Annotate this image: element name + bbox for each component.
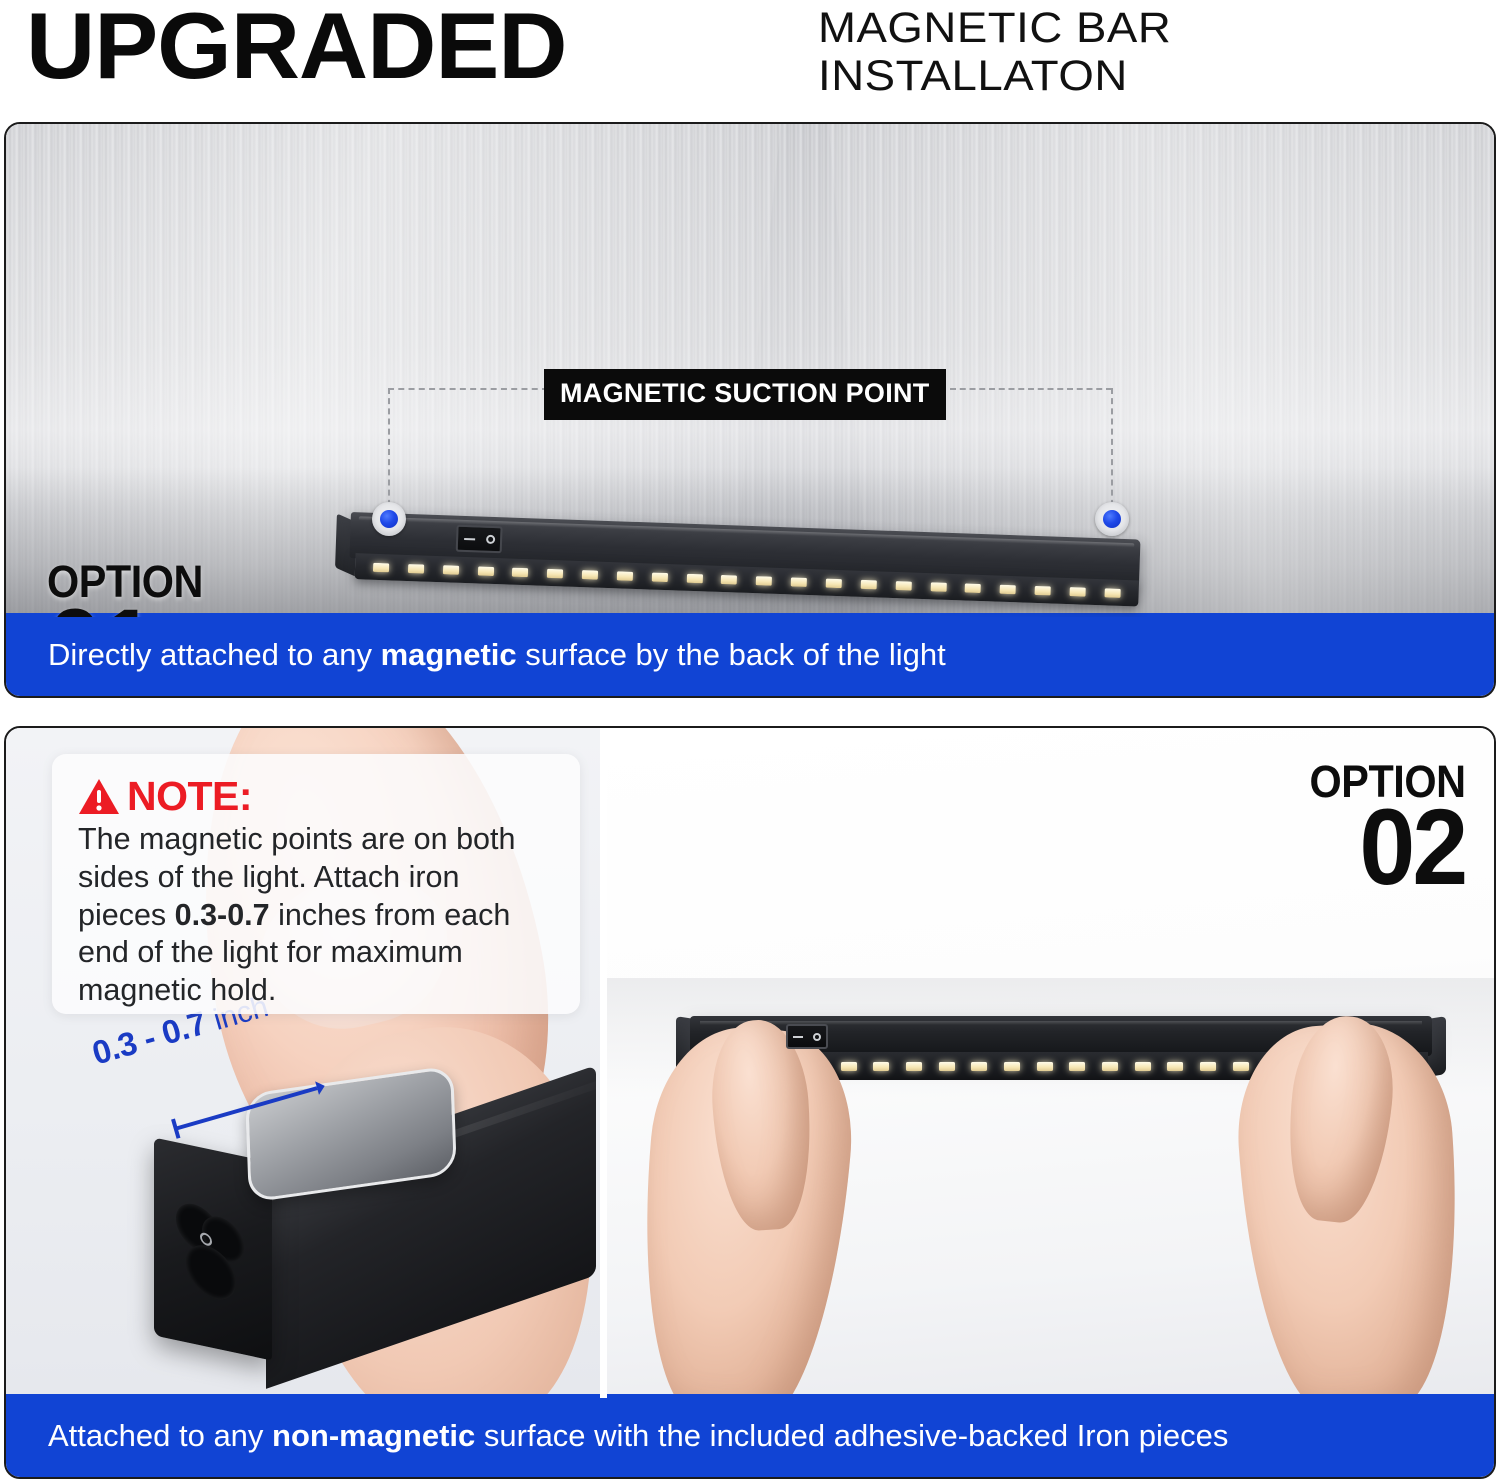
- led-chip: [791, 577, 807, 587]
- callout-leader-line-left-horizontal: [388, 388, 548, 390]
- note-title: NOTE:: [127, 776, 252, 817]
- option-02-caption-text: Attached to any non-magnetic surface wit…: [48, 1418, 1228, 1454]
- keyhole-mount-port-icon: [176, 1196, 248, 1315]
- option-02-caption-bar: Attached to any non-magnetic surface wit…: [6, 1394, 1494, 1477]
- header-subtitle-line-1: MAGNETIC BAR: [818, 4, 1171, 52]
- option-number: 02: [1308, 803, 1466, 892]
- led-chip: [906, 1062, 922, 1071]
- led-light-bar: [348, 512, 1141, 617]
- page-title: UPGRADED: [26, 0, 567, 101]
- note-measurement-highlight: 0.3-0.7: [175, 898, 270, 932]
- led-chip: [617, 571, 633, 581]
- callout-leader-line-right-horizontal: [950, 388, 1112, 390]
- option-01-caption-bar: Directly attached to any magnetic surfac…: [6, 613, 1494, 696]
- switch-off-circle-icon: [813, 1033, 821, 1041]
- header-subtitle-line-2: INSTALLATON: [818, 52, 1171, 100]
- led-chip: [547, 568, 563, 578]
- led-chip: [1069, 587, 1085, 597]
- led-chip: [1104, 588, 1120, 598]
- option-01-caption-text: Directly attached to any magnetic surfac…: [48, 637, 946, 673]
- callout-leader-line-left-vertical: [388, 388, 390, 516]
- callout-leader-line-right-vertical: [1111, 388, 1113, 516]
- led-chip: [408, 564, 424, 574]
- led-chip: [1069, 1062, 1085, 1071]
- led-chip: [939, 1062, 955, 1071]
- option-01-panel: MAGNETIC SUCTION POINT: [4, 122, 1496, 698]
- led-chip: [930, 582, 946, 592]
- switch-on-line-icon: [793, 1036, 803, 1038]
- led-chip: [652, 572, 668, 582]
- led-chip: [895, 581, 911, 591]
- note-body-text: The magnetic points are on both sides of…: [78, 821, 554, 1010]
- led-chip: [1102, 1062, 1118, 1071]
- caption-highlight: magnetic: [381, 637, 517, 672]
- led-chip: [965, 583, 981, 593]
- wall-mount-photo: OPTION 02: [606, 728, 1496, 1398]
- note-header: NOTE:: [78, 776, 554, 817]
- led-chip: [826, 578, 842, 588]
- option-02-badge: OPTION 02: [1296, 764, 1466, 891]
- warning-triangle-icon: [78, 778, 120, 816]
- photo-divider: [600, 728, 607, 1398]
- caption-suffix: surface with the included adhesive-backe…: [475, 1418, 1228, 1453]
- led-chip: [512, 567, 528, 577]
- caption-prefix: Attached to any: [48, 1418, 272, 1453]
- led-chip: [873, 1062, 889, 1071]
- switch-on-line-icon: [464, 537, 475, 539]
- led-chip: [841, 1062, 857, 1071]
- led-chip: [582, 570, 598, 580]
- led-chip: [1004, 1062, 1020, 1071]
- magnetic-point-indicator-left: [372, 502, 406, 536]
- option-number: 01: [47, 603, 205, 617]
- power-rocker-switch-icon[interactable]: [786, 1024, 828, 1049]
- caption-highlight: non-magnetic: [272, 1418, 475, 1453]
- metal-ceiling-photo: MAGNETIC SUCTION POINT: [6, 124, 1494, 617]
- magnet-dot-icon: [380, 510, 398, 528]
- led-chip: [373, 562, 389, 572]
- led-chip: [1037, 1062, 1053, 1071]
- magnetic-suction-point-label: MAGNETIC SUCTION POINT: [544, 369, 946, 420]
- caption-suffix: surface by the back of the light: [517, 637, 946, 672]
- led-chip: [1135, 1062, 1151, 1071]
- magnetic-point-indicator-right: [1095, 502, 1129, 536]
- led-chip: [1200, 1062, 1216, 1071]
- header: UPGRADED MAGNETIC BAR INSTALLATON: [0, 0, 1500, 110]
- caption-prefix: Directly attached to any: [48, 637, 381, 672]
- led-chip: [443, 565, 459, 575]
- header-subtitle: MAGNETIC BAR INSTALLATON: [818, 4, 1171, 100]
- option-01-badge: OPTION 01: [47, 564, 217, 617]
- led-chip: [1035, 585, 1051, 595]
- led-chip: [686, 573, 702, 583]
- note-callout-box: NOTE: The magnetic points are on both si…: [52, 754, 580, 1014]
- led-chip: [971, 1062, 987, 1071]
- led-chip: [1233, 1062, 1249, 1071]
- power-rocker-switch-icon[interactable]: [456, 525, 503, 554]
- led-chip: [721, 574, 737, 584]
- led-chip: [1000, 584, 1016, 594]
- led-chip: [756, 576, 772, 586]
- led-chip: [860, 579, 876, 589]
- switch-off-circle-icon: [485, 535, 494, 544]
- led-chip: [477, 566, 493, 576]
- magnet-dot-icon: [1103, 510, 1121, 528]
- led-chip: [1167, 1062, 1183, 1071]
